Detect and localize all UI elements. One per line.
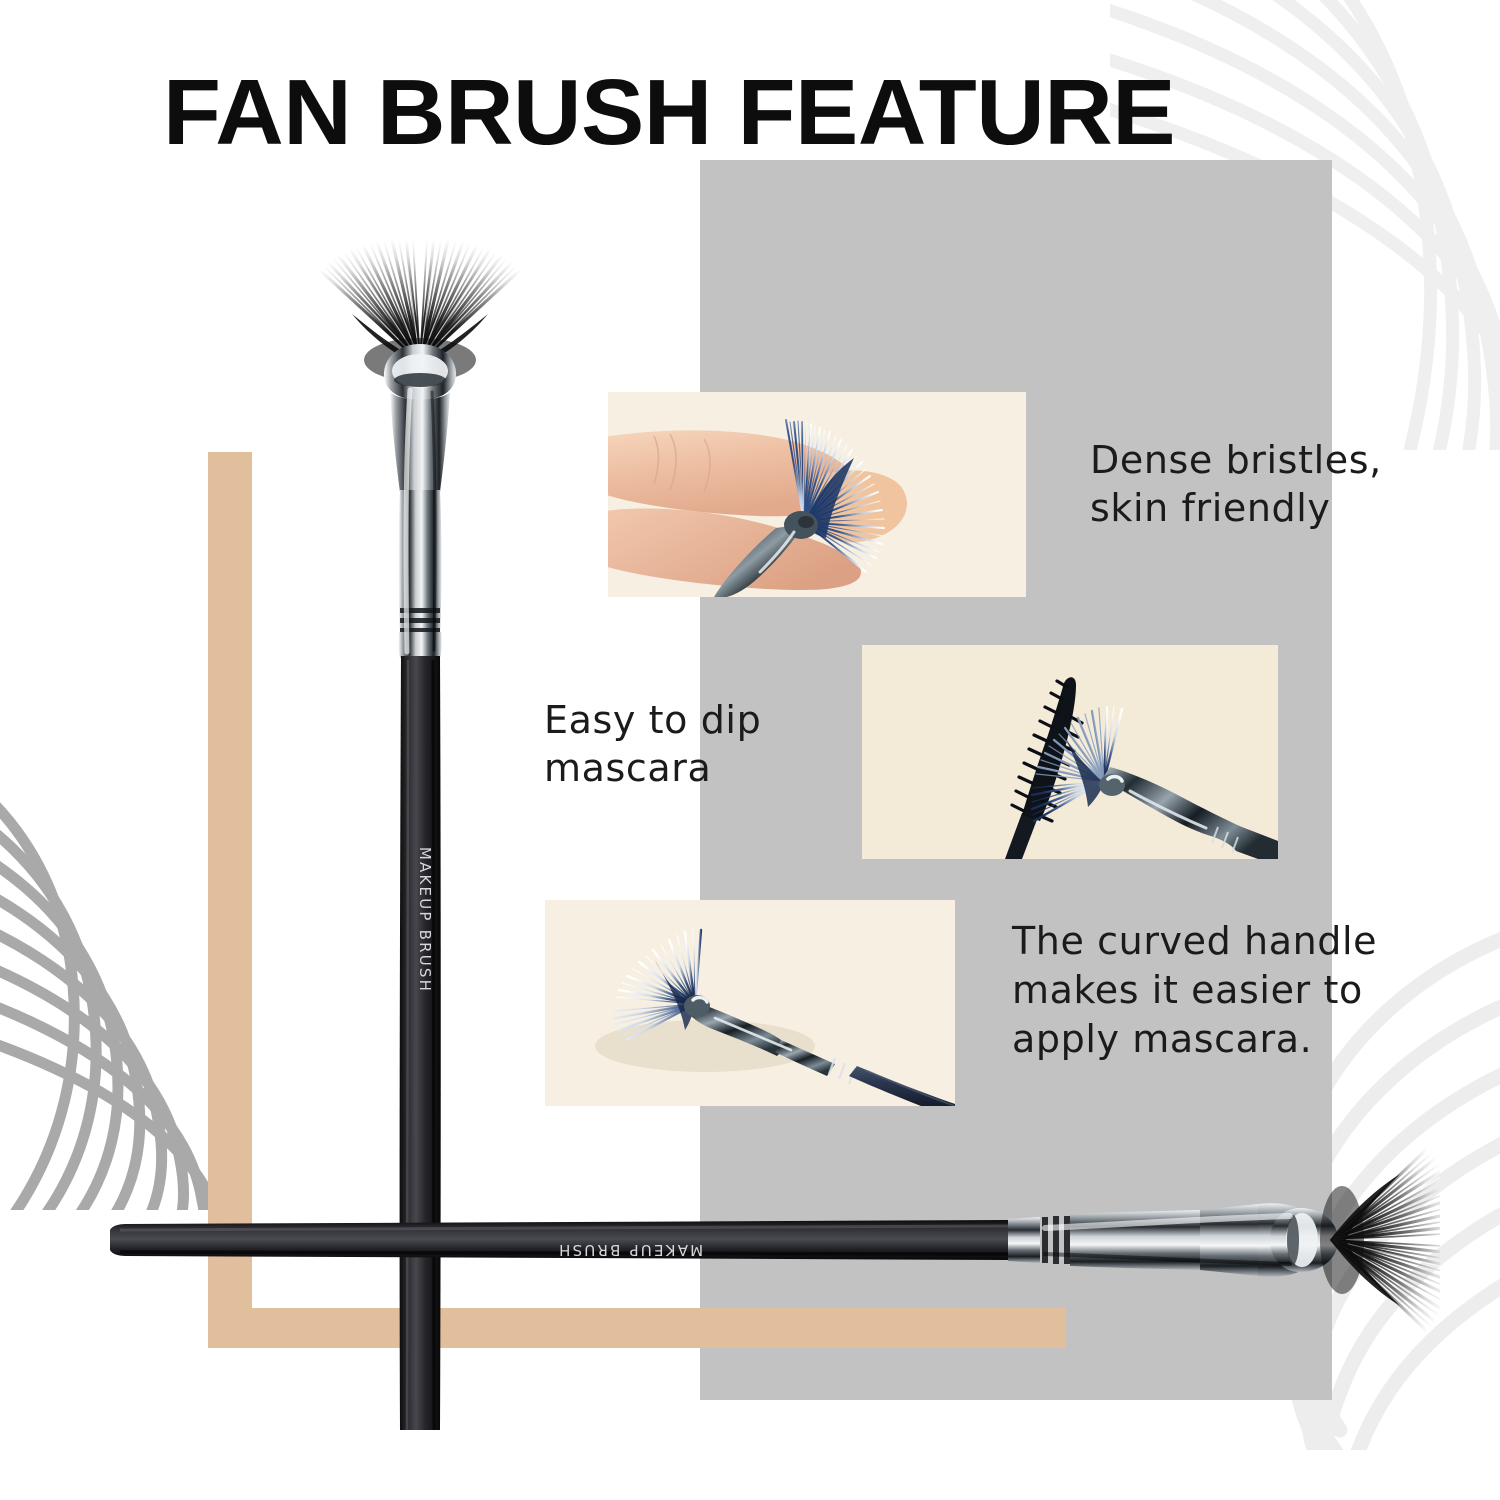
caption-easy-to-dip: Easy to dip mascara xyxy=(544,697,761,793)
caption-curved-handle: The curved handle makes it easier to app… xyxy=(1012,917,1377,1064)
page-title: FAN BRUSH FEATURE xyxy=(163,66,1175,159)
handle-brand-text-horizontal: MAKEUP BRUSH xyxy=(557,1241,703,1259)
product-image-horizontal-fan-brush: MAKEUP BRUSH xyxy=(110,1140,1440,1340)
photo-brush-with-mascara-wand xyxy=(862,645,1278,859)
handle-brand-text-vertical: MAKEUP BRUSH xyxy=(416,847,434,993)
swirl-decoration-left xyxy=(0,690,240,1210)
infographic-canvas: FAN BRUSH FEATURE xyxy=(0,0,1500,1500)
photo-fingers-holding-brush xyxy=(608,392,1026,597)
caption-dense-bristles: Dense bristles, skin friendly xyxy=(1090,437,1382,533)
photo-full-fan-brush-angled xyxy=(545,900,955,1106)
